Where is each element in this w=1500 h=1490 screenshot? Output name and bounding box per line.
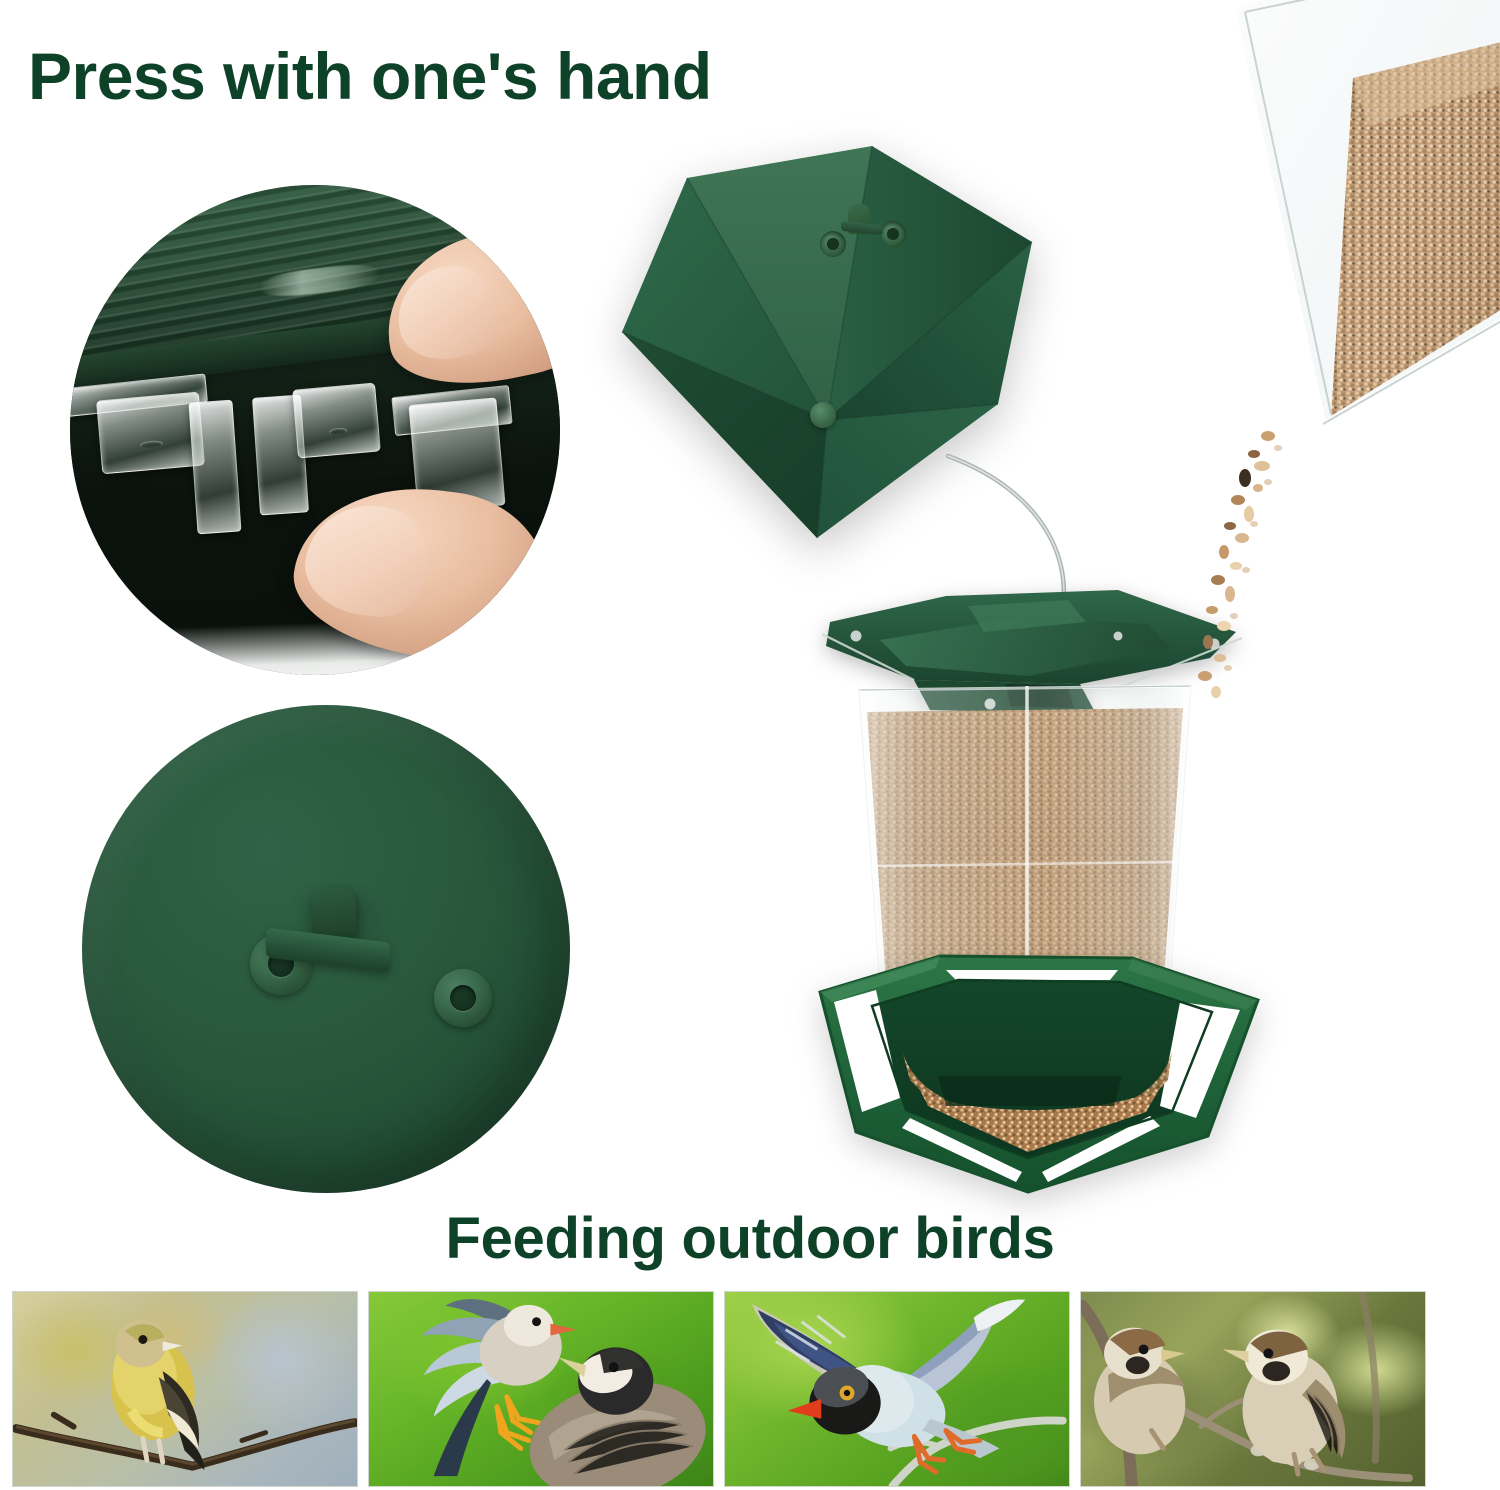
roof-vent-left bbox=[820, 231, 846, 257]
tab-hole bbox=[141, 440, 164, 449]
clear-tab-e bbox=[293, 382, 382, 458]
page-title: Press with one's hand bbox=[28, 38, 712, 114]
clear-tab-c bbox=[188, 399, 241, 534]
section-caption: Feeding outdoor birds bbox=[0, 1205, 1500, 1272]
lid-hanging-hook bbox=[280, 887, 390, 977]
photo-two-starlings-flying bbox=[368, 1291, 714, 1487]
sparrows-illustration bbox=[1081, 1292, 1425, 1486]
photo-two-sparrows-on-twigs bbox=[1080, 1291, 1426, 1487]
photo-blue-magpie-landing bbox=[724, 1291, 1070, 1487]
roof-vent-right bbox=[880, 221, 906, 247]
roof-center-hub bbox=[810, 402, 836, 428]
feeder-base-tray bbox=[760, 940, 1300, 1220]
bird-photo-strip bbox=[12, 1291, 1426, 1487]
lid-grommet-right bbox=[434, 969, 492, 1027]
tray-graphic bbox=[760, 940, 1300, 1220]
roof-hook-knob bbox=[848, 204, 870, 234]
roof-graphic bbox=[612, 138, 1042, 578]
green-lid-top-closeup bbox=[82, 705, 570, 1193]
greenfinch-illustration bbox=[13, 1292, 357, 1486]
starlings-illustration bbox=[369, 1292, 713, 1486]
pouring-seed-stream bbox=[1150, 430, 1330, 720]
tab-hole bbox=[329, 427, 347, 435]
hand-pressing-lid-closeup bbox=[70, 185, 560, 675]
blue-magpie-illustration bbox=[725, 1292, 1069, 1486]
feeder-roof bbox=[612, 138, 1042, 578]
photo-greenfinch-on-branch bbox=[12, 1291, 358, 1487]
